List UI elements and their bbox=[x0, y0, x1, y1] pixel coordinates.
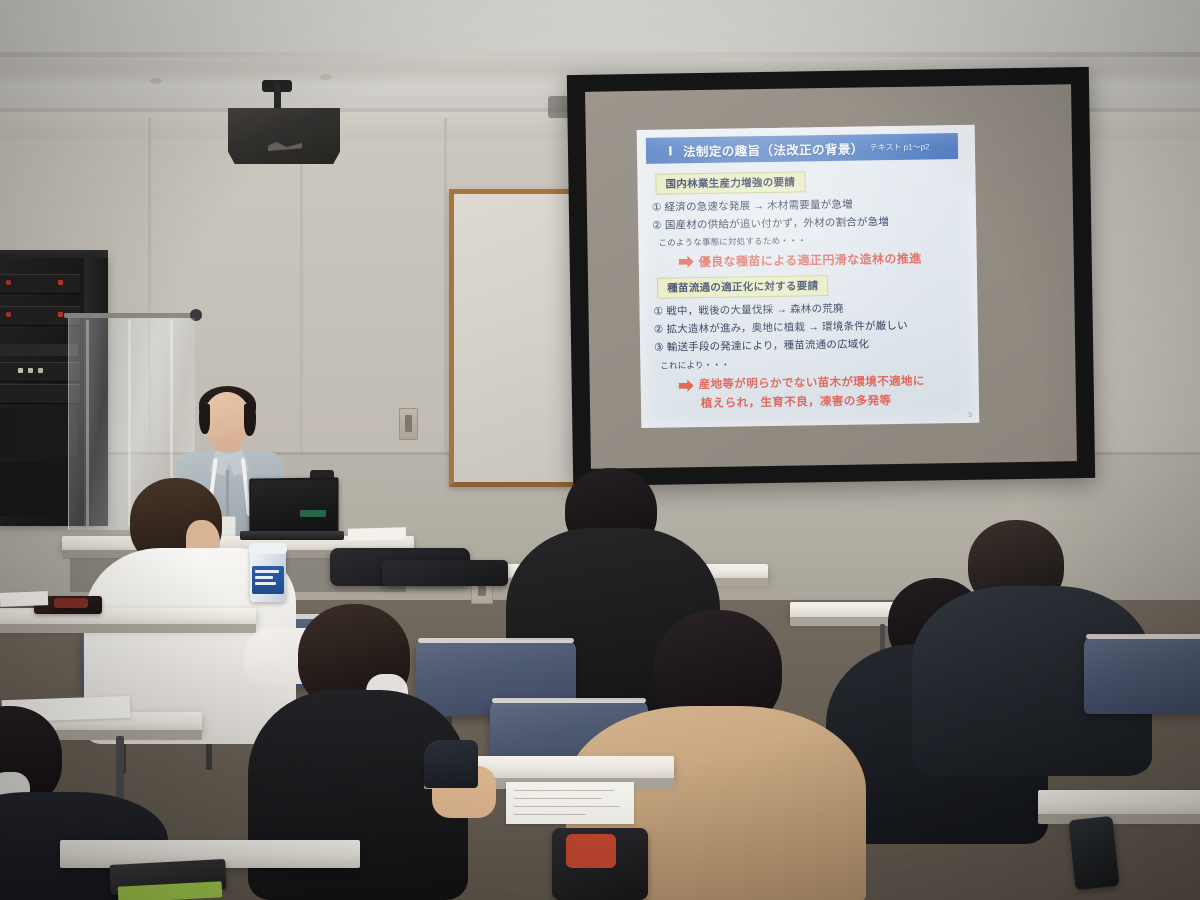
rack-led bbox=[28, 368, 33, 373]
slide-section1-conclusion: 優良な種苗による適正円滑な造林の推進 bbox=[699, 250, 922, 270]
slide-title-bar: Ⅰ 法制定の趣旨（法改正の背景） テキスト p1〜p2 bbox=[646, 133, 958, 164]
paper-text-line bbox=[514, 798, 602, 799]
slide-section2-item-3: ③ 輸送手段の発達により，種苗流通の広域化 bbox=[654, 336, 869, 354]
smartphone[interactable] bbox=[1068, 816, 1119, 890]
projection-screen: Ⅰ 法制定の趣旨（法改正の背景） テキスト p1〜p2 国内林業生産力増強の要請… bbox=[567, 67, 1095, 486]
ceiling-speaker bbox=[228, 108, 340, 164]
red-arrow-icon bbox=[679, 255, 694, 268]
chair-rim bbox=[1086, 634, 1200, 639]
chair-rim bbox=[492, 698, 646, 703]
slide-title-numeral: Ⅰ bbox=[646, 143, 683, 159]
slide-page-number: 5 bbox=[968, 412, 972, 419]
slide-section2-conclusion-line2: 植えられ，生育不良，凍害の多発等 bbox=[701, 392, 892, 411]
rack-led bbox=[58, 312, 63, 317]
rack-led bbox=[6, 280, 11, 285]
slide-section1-note: このような事態に対処するため・・・ bbox=[658, 234, 806, 248]
rack-blank-panel bbox=[0, 408, 78, 456]
rack-led bbox=[38, 368, 43, 373]
ceiling-seam bbox=[0, 52, 1200, 57]
wet-wipes-label bbox=[252, 566, 284, 594]
handout-paper bbox=[348, 527, 406, 541]
lecture-room-photo: Ⅰ 法制定の趣旨（法改正の背景） テキスト p1〜p2 国内林業生産力増強の要請… bbox=[0, 0, 1200, 900]
slide-title-reference: テキスト p1〜p2 bbox=[870, 141, 930, 153]
slide-section1-heading: 国内林業生産力増強の要請 bbox=[655, 171, 805, 194]
ceiling-fixture-dot bbox=[320, 74, 332, 80]
presenter-laptop[interactable] bbox=[249, 477, 338, 538]
rack-led bbox=[18, 368, 23, 373]
rack-blank-panel bbox=[0, 344, 78, 356]
presentation-slide: Ⅰ 法制定の趣旨（法改正の背景） テキスト p1〜p2 国内林業生産力増強の要請… bbox=[637, 125, 980, 428]
backpack-strap bbox=[382, 560, 508, 586]
paper-text-line bbox=[514, 814, 586, 815]
paper-text-line bbox=[514, 790, 614, 791]
student-desk-edge bbox=[0, 624, 256, 633]
speaker-mount-pole bbox=[274, 84, 281, 110]
chair-rim bbox=[418, 638, 574, 643]
bag-accent bbox=[566, 834, 616, 868]
student-desk-edge bbox=[1038, 814, 1200, 824]
pen-case-accent bbox=[54, 598, 88, 608]
screen-surface: Ⅰ 法制定の趣旨（法改正の背景） テキスト p1〜p2 国内林業生産力増強の要請… bbox=[585, 84, 1077, 469]
curtain-fold bbox=[86, 320, 89, 526]
presenter-hair-side bbox=[199, 404, 210, 434]
printed-handout bbox=[506, 782, 634, 824]
rack-led bbox=[6, 312, 11, 317]
slide-section2-heading: 種苗流通の適正化に対する要請 bbox=[657, 275, 829, 299]
ceiling-fixture-dot bbox=[150, 78, 162, 84]
rack-blank-panel bbox=[0, 462, 78, 516]
slide-section2-note: これにより・・・ bbox=[660, 359, 730, 372]
slide-title-text: 法制定の趣旨（法改正の背景） bbox=[683, 138, 864, 160]
rack-led bbox=[58, 280, 63, 285]
student-desk bbox=[1038, 790, 1200, 816]
slide-section2-item-1: ① 戦中，戦後の大量伐採 → 森林の荒廃 bbox=[653, 301, 843, 319]
audience-arm bbox=[424, 740, 478, 788]
slide-section1-item-2: ② 国産材の供給が追い付かず，外材の割合が急増 bbox=[652, 214, 889, 233]
curtain-fold bbox=[128, 320, 131, 526]
slide-section2-conclusion-line1: 産地等が明らかでない苗木が環境不適地に bbox=[699, 373, 925, 393]
laptop-keyboard-base[interactable] bbox=[240, 531, 344, 540]
slide-section2-item-2: ② 拡大造林が進み，奥地に植栽 → 環境条件が厳しい bbox=[654, 318, 908, 337]
chair[interactable] bbox=[1084, 636, 1200, 714]
rack-unit bbox=[0, 274, 80, 294]
laptop-screen-glow bbox=[300, 510, 326, 517]
presenter-hair-side bbox=[244, 404, 256, 436]
wet-wipes-lid bbox=[249, 543, 287, 554]
wall-outlet[interactable] bbox=[399, 408, 418, 440]
red-arrow-icon bbox=[679, 379, 694, 392]
handout-paper bbox=[0, 591, 48, 607]
slide-section1-item-1: ① 経済の急速な発展 → 木材需要量が急増 bbox=[652, 197, 853, 215]
paper-text-line bbox=[514, 806, 620, 807]
